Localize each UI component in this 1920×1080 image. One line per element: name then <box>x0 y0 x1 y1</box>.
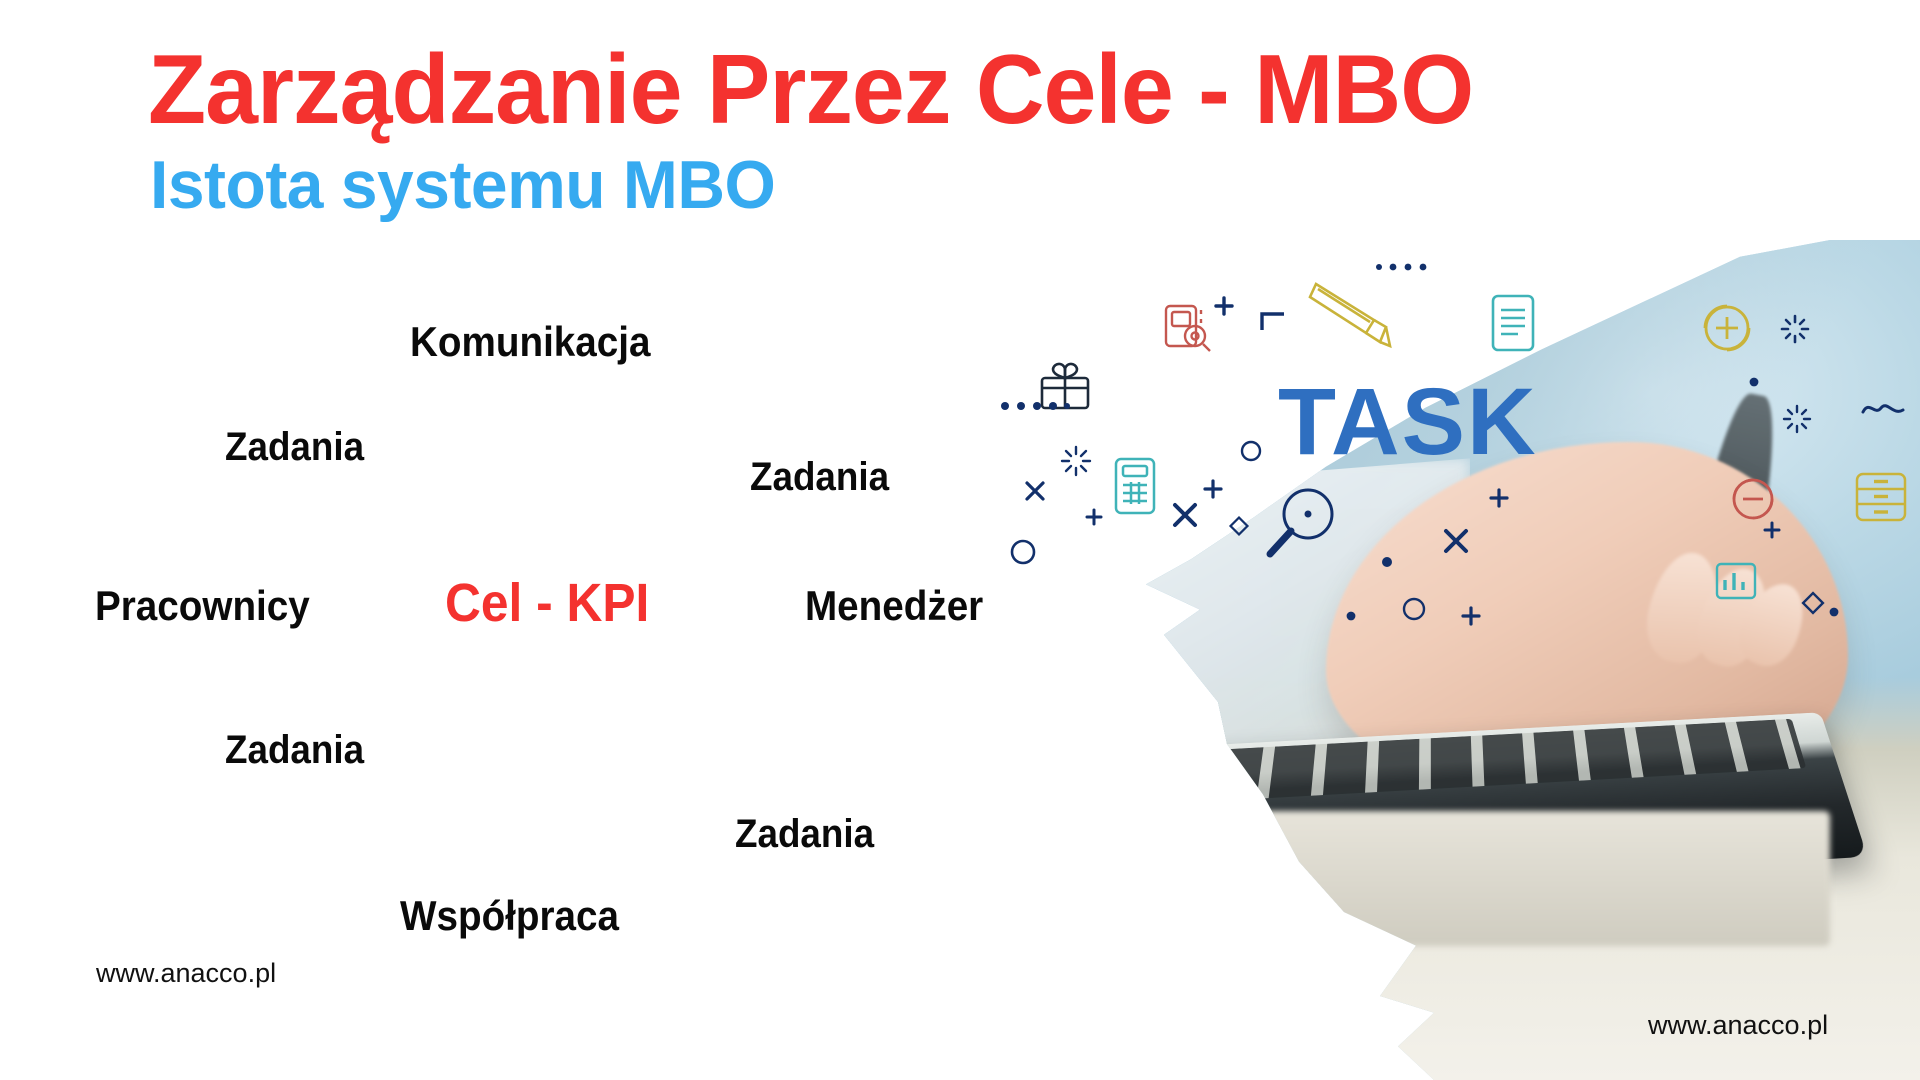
cloud-word-cel-kpi: Cel - KPI <box>445 572 649 634</box>
cloud-word-zadania-3: Zadania <box>225 728 364 773</box>
cloud-word-zadania-2: Zadania <box>750 455 889 500</box>
dot-icon <box>1748 376 1760 388</box>
cross-icon <box>1168 498 1202 532</box>
wave-icon <box>1860 400 1906 418</box>
bracket-icon <box>1258 310 1288 334</box>
calculator-icon <box>1108 455 1162 517</box>
circle-icon <box>1400 595 1428 623</box>
plus-icon <box>1762 520 1782 540</box>
cloud-word-zadania-1: Zadania <box>225 425 364 470</box>
diamond-icon <box>1228 515 1250 537</box>
dot-icon <box>1345 610 1357 622</box>
task-overlay-word: TASK <box>1278 368 1538 477</box>
dots-icon <box>1375 262 1435 272</box>
document-search-icon <box>1158 300 1214 356</box>
cloud-word-pracownicy: Pracownicy <box>95 582 310 630</box>
sparkle-icon <box>1060 445 1092 477</box>
dots-icon <box>1000 400 1070 412</box>
pencil-icon <box>1308 280 1396 352</box>
circle-icon <box>1008 537 1038 567</box>
circle-icon <box>1238 438 1264 464</box>
cloud-word-zadania-4: Zadania <box>735 812 874 857</box>
cross-icon <box>1440 525 1472 557</box>
bar-chart-icon <box>1712 560 1760 602</box>
page-title: Zarządzanie Przez Cele - MBO <box>148 38 1473 141</box>
diamond-icon <box>1800 590 1826 616</box>
sparkle-icon <box>1778 312 1812 346</box>
website-url-right[interactable]: www.anacco.pl <box>1648 1010 1828 1041</box>
plus-icon <box>1084 507 1104 527</box>
drawer-icon <box>1852 470 1910 524</box>
plus-icon <box>1202 478 1224 500</box>
plus-icon <box>1212 294 1236 318</box>
sparkle-icon <box>1782 404 1812 434</box>
plus-circle-icon <box>1694 295 1760 361</box>
document-lines-icon <box>1488 292 1538 354</box>
cloud-word-komunikacja: Komunikacja <box>410 318 651 366</box>
cloud-word-menedzer: Menedżer <box>805 582 983 630</box>
slide-canvas: TASK Zarządzanie Przez Cele - MBO Istota… <box>0 0 1920 1080</box>
magnifier-icon <box>1258 478 1346 566</box>
website-url-left[interactable]: www.anacco.pl <box>96 958 276 989</box>
dot-icon <box>1380 555 1394 569</box>
page-subtitle: Istota systemu MBO <box>150 150 775 221</box>
plus-icon <box>1488 487 1510 509</box>
photo-collage <box>1020 240 1920 1080</box>
plus-icon <box>1460 605 1482 627</box>
cloud-word-wspolpraca: Współpraca <box>400 892 619 940</box>
dot-icon <box>1828 606 1840 618</box>
cross-icon <box>1022 478 1048 504</box>
photo-notebook <box>1200 811 1830 945</box>
